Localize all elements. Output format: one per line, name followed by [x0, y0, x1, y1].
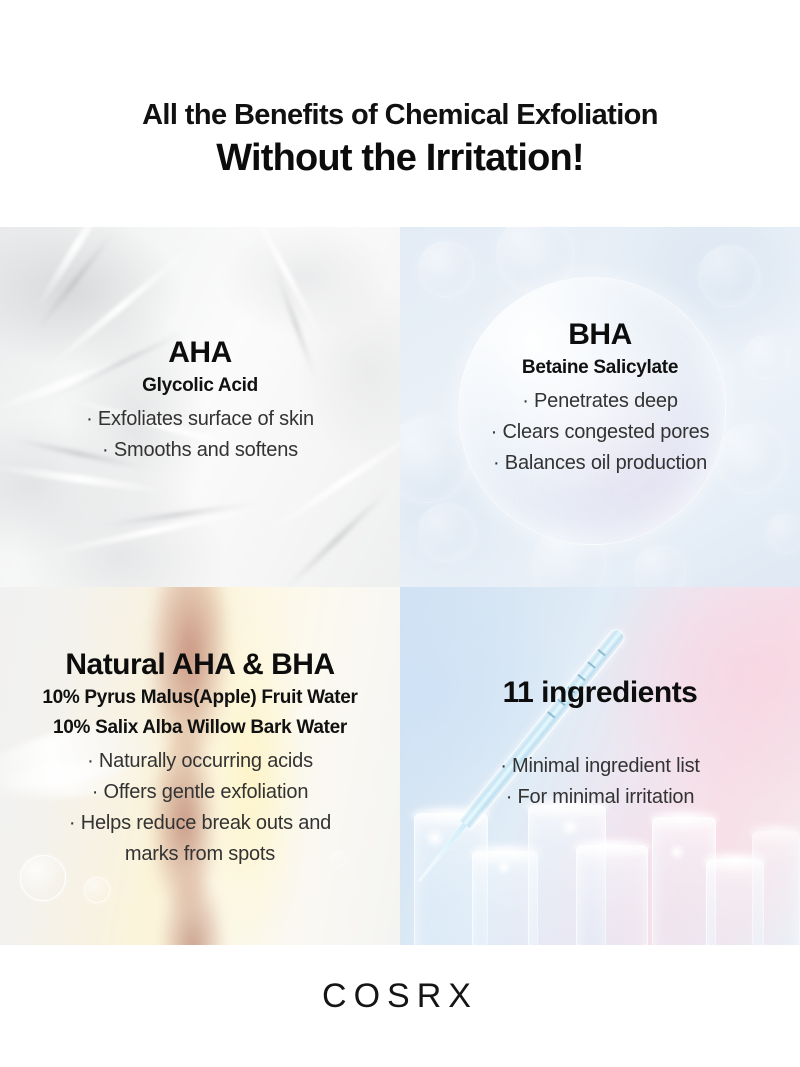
gel-streak-decor: [242, 227, 327, 346]
benefits-grid: AHA Glycolic Acid · Exfoliates surface o…: [0, 227, 800, 945]
footer: COSRX: [0, 975, 800, 1017]
quadrant-aha-subtitle: Glycolic Acid: [0, 371, 400, 401]
quadrant-bha-content: BHA Betaine Salicylate · Penetrates deep…: [400, 317, 800, 479]
quadrant-ingredients-content: 11 ingredients · Minimal ingredient list…: [400, 675, 800, 813]
quadrant-aha-title: AHA: [0, 335, 400, 371]
bullet-item: · Exfoliates surface of skin: [0, 404, 400, 435]
bullet-item: · Penetrates deep: [400, 386, 800, 417]
quadrant-bha: BHA Betaine Salicylate · Penetrates deep…: [400, 227, 800, 587]
infographic-page: All the Benefits of Chemical Exfoliation…: [0, 0, 800, 1067]
bullet-item: · For minimal irritation: [400, 782, 800, 813]
quadrant-natural-content: Natural AHA & BHA 10% Pyrus Malus(Apple)…: [0, 647, 400, 870]
bubble-decor: [418, 503, 476, 561]
bullet-item: · Balances oil production: [400, 448, 800, 479]
bullet-item: · Offers gentle exfoliation: [0, 777, 400, 808]
quadrant-natural-title: Natural AHA & BHA: [0, 647, 400, 683]
quadrant-aha-content: AHA Glycolic Acid · Exfoliates surface o…: [0, 335, 400, 466]
quadrant-ingredients-bullets: · Minimal ingredient list · For minimal …: [400, 751, 800, 813]
bullet-item: · Helps reduce break outs and: [0, 808, 400, 839]
glass-vial-decor: [752, 831, 800, 945]
glass-vial-decor: [576, 845, 648, 945]
quadrant-natural-subtitle-1: 10% Pyrus Malus(Apple) Fruit Water: [0, 683, 400, 713]
quadrant-natural-subtitle-2: 10% Salix Alba Willow Bark Water: [0, 713, 400, 743]
quadrant-aha-bullets: · Exfoliates surface of skin · Smooths a…: [0, 404, 400, 466]
bullet-item: · Clears congested pores: [400, 417, 800, 448]
highlight-decor: [496, 859, 512, 875]
highlight-decor: [560, 817, 580, 837]
headline-line-1: All the Benefits of Chemical Exfoliation: [0, 96, 800, 134]
headline-line-2: Without the Irritation!: [0, 134, 800, 182]
bubble-decor: [634, 545, 686, 587]
bullet-item: marks from spots: [0, 839, 400, 870]
bubble-decor: [698, 245, 760, 307]
bubble-decor: [418, 241, 474, 297]
gel-shadow-decor: [281, 486, 392, 587]
quadrant-aha: AHA Glycolic Acid · Exfoliates surface o…: [0, 227, 400, 587]
headline-block: All the Benefits of Chemical Exfoliation…: [0, 96, 800, 182]
quadrant-ingredients: 11 ingredients · Minimal ingredient list…: [400, 587, 800, 945]
quadrant-natural: Natural AHA & BHA 10% Pyrus Malus(Apple)…: [0, 587, 400, 945]
gel-streak-decor: [42, 503, 268, 558]
quadrant-bha-subtitle: Betaine Salicylate: [400, 353, 800, 383]
bullet-item: · Smooths and softens: [0, 435, 400, 466]
droplet-decor: [84, 877, 110, 903]
quadrant-bha-bullets: · Penetrates deep · Clears congested por…: [400, 386, 800, 479]
bullet-item: · Naturally occurring acids: [0, 746, 400, 777]
cosrx-logo: COSRX: [322, 975, 478, 1017]
highlight-decor: [668, 843, 686, 861]
quadrant-bha-title: BHA: [400, 317, 800, 353]
quadrant-natural-bullets: · Naturally occurring acids · Offers gen…: [0, 746, 400, 870]
bubble-decor: [766, 513, 800, 553]
bullet-item: · Minimal ingredient list: [400, 751, 800, 782]
quadrant-ingredients-title: 11 ingredients: [400, 675, 800, 711]
